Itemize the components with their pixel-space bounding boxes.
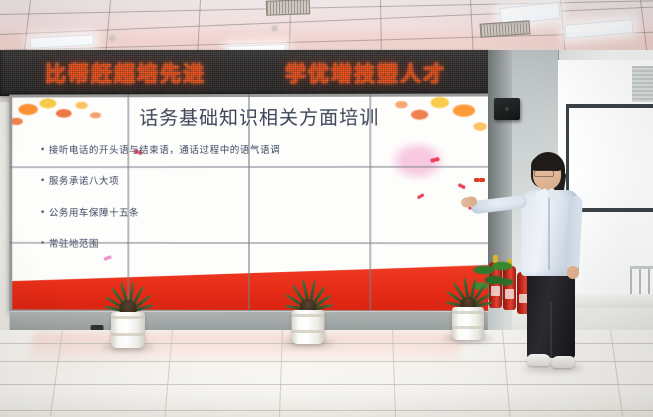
right-arm xyxy=(565,196,583,271)
list-item: • 服务承诺八大项 xyxy=(40,176,468,188)
plant-pot xyxy=(292,310,325,344)
screen-bezel-seam xyxy=(9,166,491,168)
trouser-seam xyxy=(550,302,552,358)
bullet-text: 接听电话的开头语与结束语，通话过程中的语气语调 xyxy=(49,145,280,157)
shoe xyxy=(551,356,575,368)
ceiling-air-vent xyxy=(266,0,310,16)
list-item: • 接听电话的开头语与结束语，通话过程中的语气语调 xyxy=(40,145,468,157)
plant-pot xyxy=(111,312,145,348)
presenter xyxy=(505,152,600,377)
right-hand xyxy=(567,266,579,279)
shirt-placket xyxy=(548,198,550,270)
bullet-text: 常驻地范围 xyxy=(49,239,99,250)
screen-bezel-seam xyxy=(248,94,250,313)
shoe xyxy=(527,354,551,366)
smoke-detector-icon xyxy=(110,36,115,41)
photo-scene: 比帮赶超培先进 学优增技塑人才 话务基础知识相关方面培训 • 接听电话的开头语与… xyxy=(0,0,653,417)
presentation-slide: 话务基础知识相关方面培训 • 接听电话的开头语与结束语，通话过程中的语气语调 •… xyxy=(12,96,488,310)
window-blind xyxy=(632,66,653,102)
hair xyxy=(531,156,563,171)
potted-sago-palm-left xyxy=(88,250,168,348)
window-frame xyxy=(566,104,653,108)
list-item: • 公务用车保障十五条 xyxy=(40,208,468,219)
screen-bezel-seam xyxy=(369,94,371,314)
glasses-icon xyxy=(534,170,554,177)
potted-sago-palm-right xyxy=(428,246,508,340)
butterfly-icon xyxy=(474,176,485,184)
scrolling-led-banner: 比帮赶超培先进 学优增技塑人才 xyxy=(0,50,490,96)
led-banner-right-text: 学优增技塑人才 xyxy=(285,58,446,88)
red-wave-footer xyxy=(12,264,488,311)
lcd-video-wall[interactable]: 话务基础知识相关方面培训 • 接听电话的开头语与结束语，通话过程中的语气语调 •… xyxy=(9,93,491,313)
potted-sago-palm-center xyxy=(268,248,348,344)
bullet-text: 服务承诺八大项 xyxy=(49,176,119,187)
bullet-marker: • xyxy=(40,145,49,156)
bullet-marker: • xyxy=(40,239,49,250)
plant-pot xyxy=(452,307,484,340)
smoke-detector-icon xyxy=(272,26,277,31)
wall-speaker xyxy=(494,98,520,120)
slide-title: 话务基础知识相关方面培训 xyxy=(139,103,379,130)
led-banner-left-text: 比帮赶超培先进 xyxy=(45,58,206,88)
bullet-marker: • xyxy=(40,177,49,188)
screen-bezel-seam xyxy=(9,242,491,244)
bullet-marker: • xyxy=(40,208,49,219)
bullet-text: 公务用车保障十五条 xyxy=(49,208,139,219)
